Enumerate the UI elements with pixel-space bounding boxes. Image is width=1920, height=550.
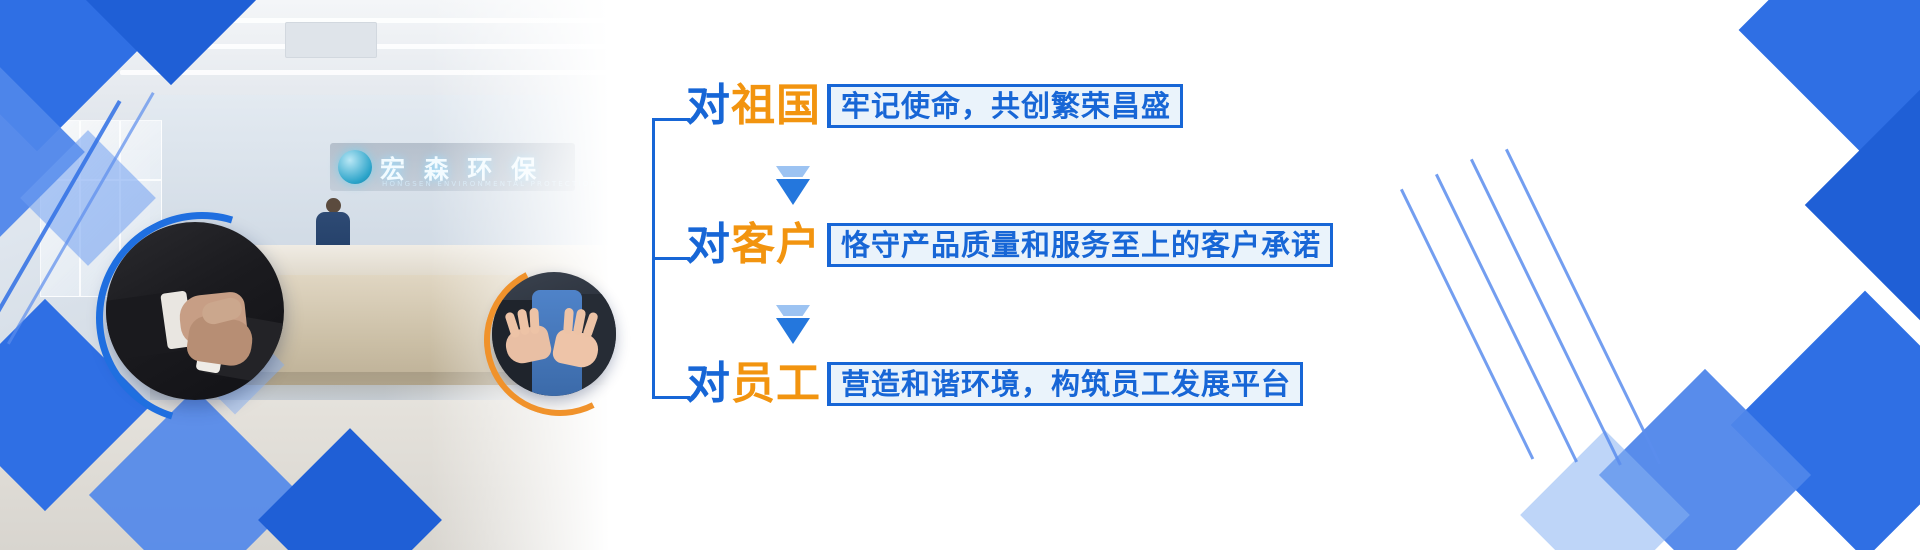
- row-slogan-text: 营造和谐环境，构筑员工发展平台: [841, 367, 1291, 401]
- row-slogan-box: 恪守产品质量和服务至上的客户承诺: [827, 223, 1333, 267]
- receptionist: [316, 198, 350, 252]
- row-heading: 对客户: [686, 223, 821, 267]
- row-heading: 对员工: [686, 362, 821, 406]
- row-keyword: 客户: [731, 219, 821, 270]
- bracket-tick: [652, 257, 690, 260]
- ceiling-vent: [285, 22, 377, 58]
- bracket-tick: [652, 118, 690, 121]
- row-slogan-text: 牢记使命，共创繁荣昌盛: [841, 89, 1171, 123]
- row-keyword: 祖国: [731, 80, 821, 131]
- down-arrow-icon: [776, 305, 810, 344]
- row-prefix: 对: [686, 358, 731, 409]
- slogan-row: 对客户 恪守产品质量和服务至上的客户承诺: [686, 223, 1333, 267]
- row-prefix: 对: [686, 80, 731, 131]
- decor-line: [1505, 149, 1661, 465]
- bracket-tick: [652, 396, 690, 399]
- slogan-group: 对祖国 牢记使命，共创繁荣昌盛 对客户 恪守产品质量和服务至上的客户承诺 对员工: [652, 70, 1352, 470]
- row-prefix: 对: [686, 219, 731, 270]
- decor-line: [1400, 189, 1534, 460]
- slogan-row: 对员工 营造和谐环境，构筑员工发展平台: [686, 362, 1303, 406]
- row-heading: 对祖国: [686, 84, 821, 128]
- decor-line: [1470, 159, 1622, 466]
- row-keyword: 员工: [731, 358, 821, 409]
- row-slogan-box: 牢记使命，共创繁荣昌盛: [827, 84, 1183, 128]
- row-slogan-text: 恪守产品质量和服务至上的客户承诺: [841, 228, 1321, 262]
- decor-line: [1435, 174, 1578, 463]
- slogan-row: 对祖国 牢记使命，共创繁荣昌盛: [686, 84, 1183, 128]
- down-arrow-icon: [776, 166, 810, 205]
- banner-root: 宏 森 环 保 HONGSEN ENVIRONMENTAL PROTECTION: [0, 0, 1920, 550]
- row-slogan-box: 营造和谐环境，构筑员工发展平台: [827, 362, 1303, 406]
- globe-logo-icon: [338, 150, 372, 184]
